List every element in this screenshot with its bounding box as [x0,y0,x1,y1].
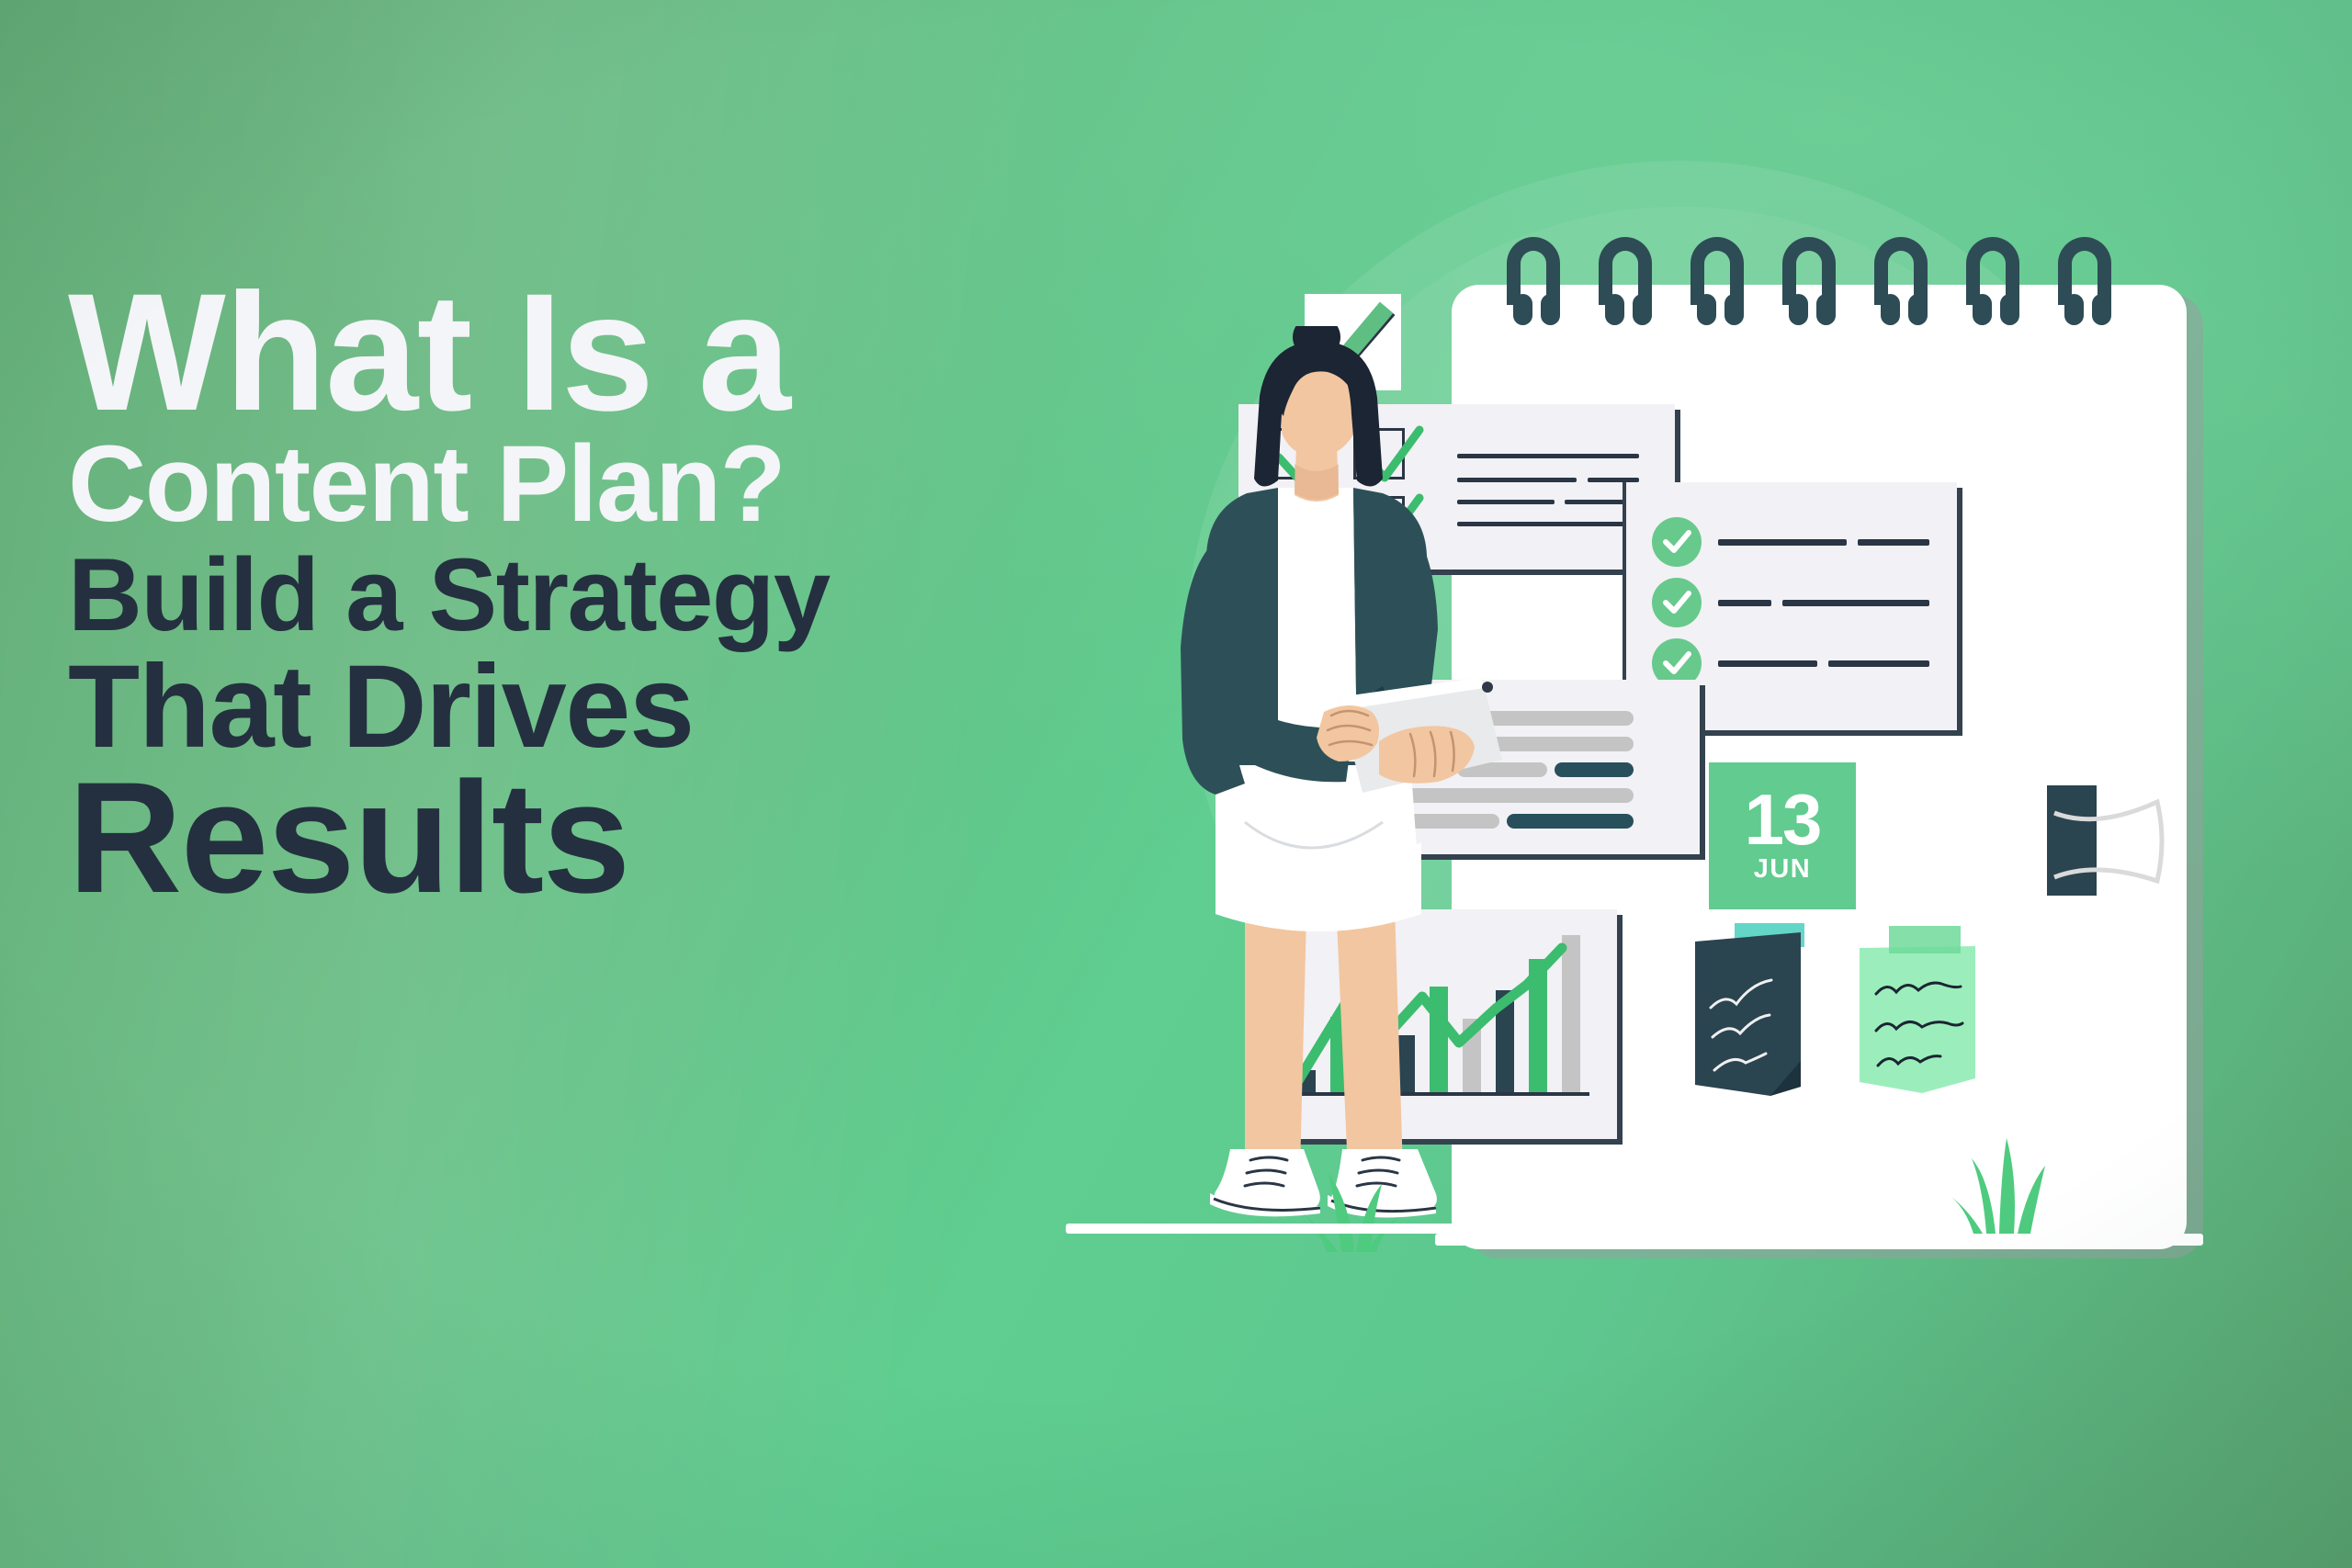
calendar-month: JUN [1754,854,1812,885]
headline-block: What Is a Content Plan? Build a Strategy… [68,276,1207,910]
check-icon-group [1652,517,1707,701]
headline-line-1: What Is a [68,276,1207,429]
spiral-ring [2058,237,2111,336]
spiral-ring [1599,237,1652,336]
mint-sticky-note [1856,926,1986,1097]
spiral-ring [1966,237,2019,336]
calendar-tile: 13 JUN [1709,762,1856,909]
headline-line-4: That Drives [68,653,1207,761]
headline-line-5: Results [68,765,1207,910]
notepad-base [1435,1234,2203,1246]
illustration: 13 JUN [1130,0,2352,1568]
grass-tuft [1286,1153,1415,1254]
spiral-ring [1874,237,1928,336]
headline-line-3: Build a Strategy [68,547,1207,642]
ground-line [1066,1224,1525,1234]
woman-with-tablet [1107,326,1539,1254]
grass-tuft [1939,1125,2076,1235]
spiral-ring [1690,237,1744,336]
spiral-ring [1507,237,1560,336]
binder-clip-wire-icon [2049,785,2168,900]
headline-line-2: Content Plan? [68,434,1207,535]
banner-canvas: What Is a Content Plan? Build a Strategy… [0,0,2352,1568]
calendar-day: 13 [1745,787,1821,852]
notepad-spiral [1507,237,2113,338]
dark-sticky-note [1692,923,1823,1096]
spiral-ring [1782,237,1836,336]
